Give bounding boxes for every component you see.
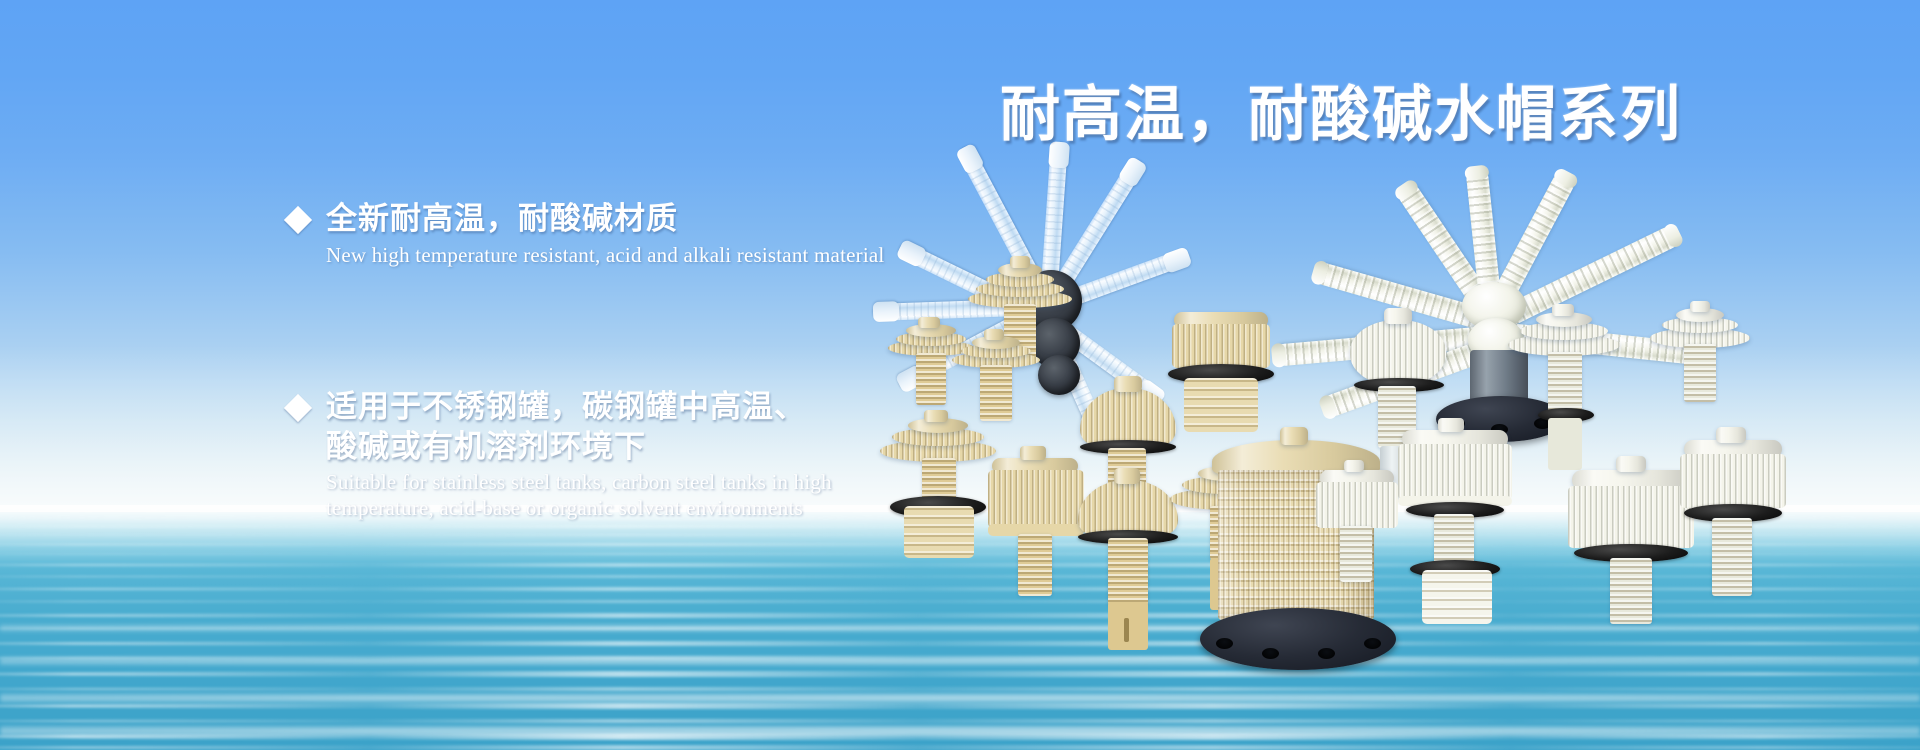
feature-2-cn-line-1: 适用于不锈钢罐，碳钢罐中高温、 (326, 388, 832, 428)
feature-2-en-line-1: Suitable for stainless steel tanks, carb… (326, 470, 832, 496)
feature-1-cn-line-1: 全新耐高温，耐酸碱材质 (326, 200, 884, 240)
page-title: 耐高温，耐酸碱水帽系列 (1000, 66, 1682, 153)
feature-bullet-2: 适用于不锈钢罐，碳钢罐中高温、 酸碱或有机溶剂环境下 Suitable for … (288, 388, 832, 522)
diamond-bullet-icon (284, 394, 312, 422)
diamond-bullet-icon (284, 206, 312, 234)
feature-bullet-1: 全新耐高温，耐酸碱材质 New high temperature resista… (288, 200, 884, 268)
feature-2-cn-line-2: 酸碱或有机溶剂环境下 (326, 428, 832, 468)
hero-banner: 耐高温，耐酸碱水帽系列 全新耐高温，耐酸碱材质 New high tempera… (0, 0, 1920, 750)
feature-1-en-line-1: New high temperature resistant, acid and… (326, 243, 884, 267)
product-photo-group (880, 150, 1810, 660)
white-nozzle-cluster (1350, 320, 1780, 660)
feature-2-en-line-2: temperature, acid-base or organic solven… (326, 496, 832, 522)
